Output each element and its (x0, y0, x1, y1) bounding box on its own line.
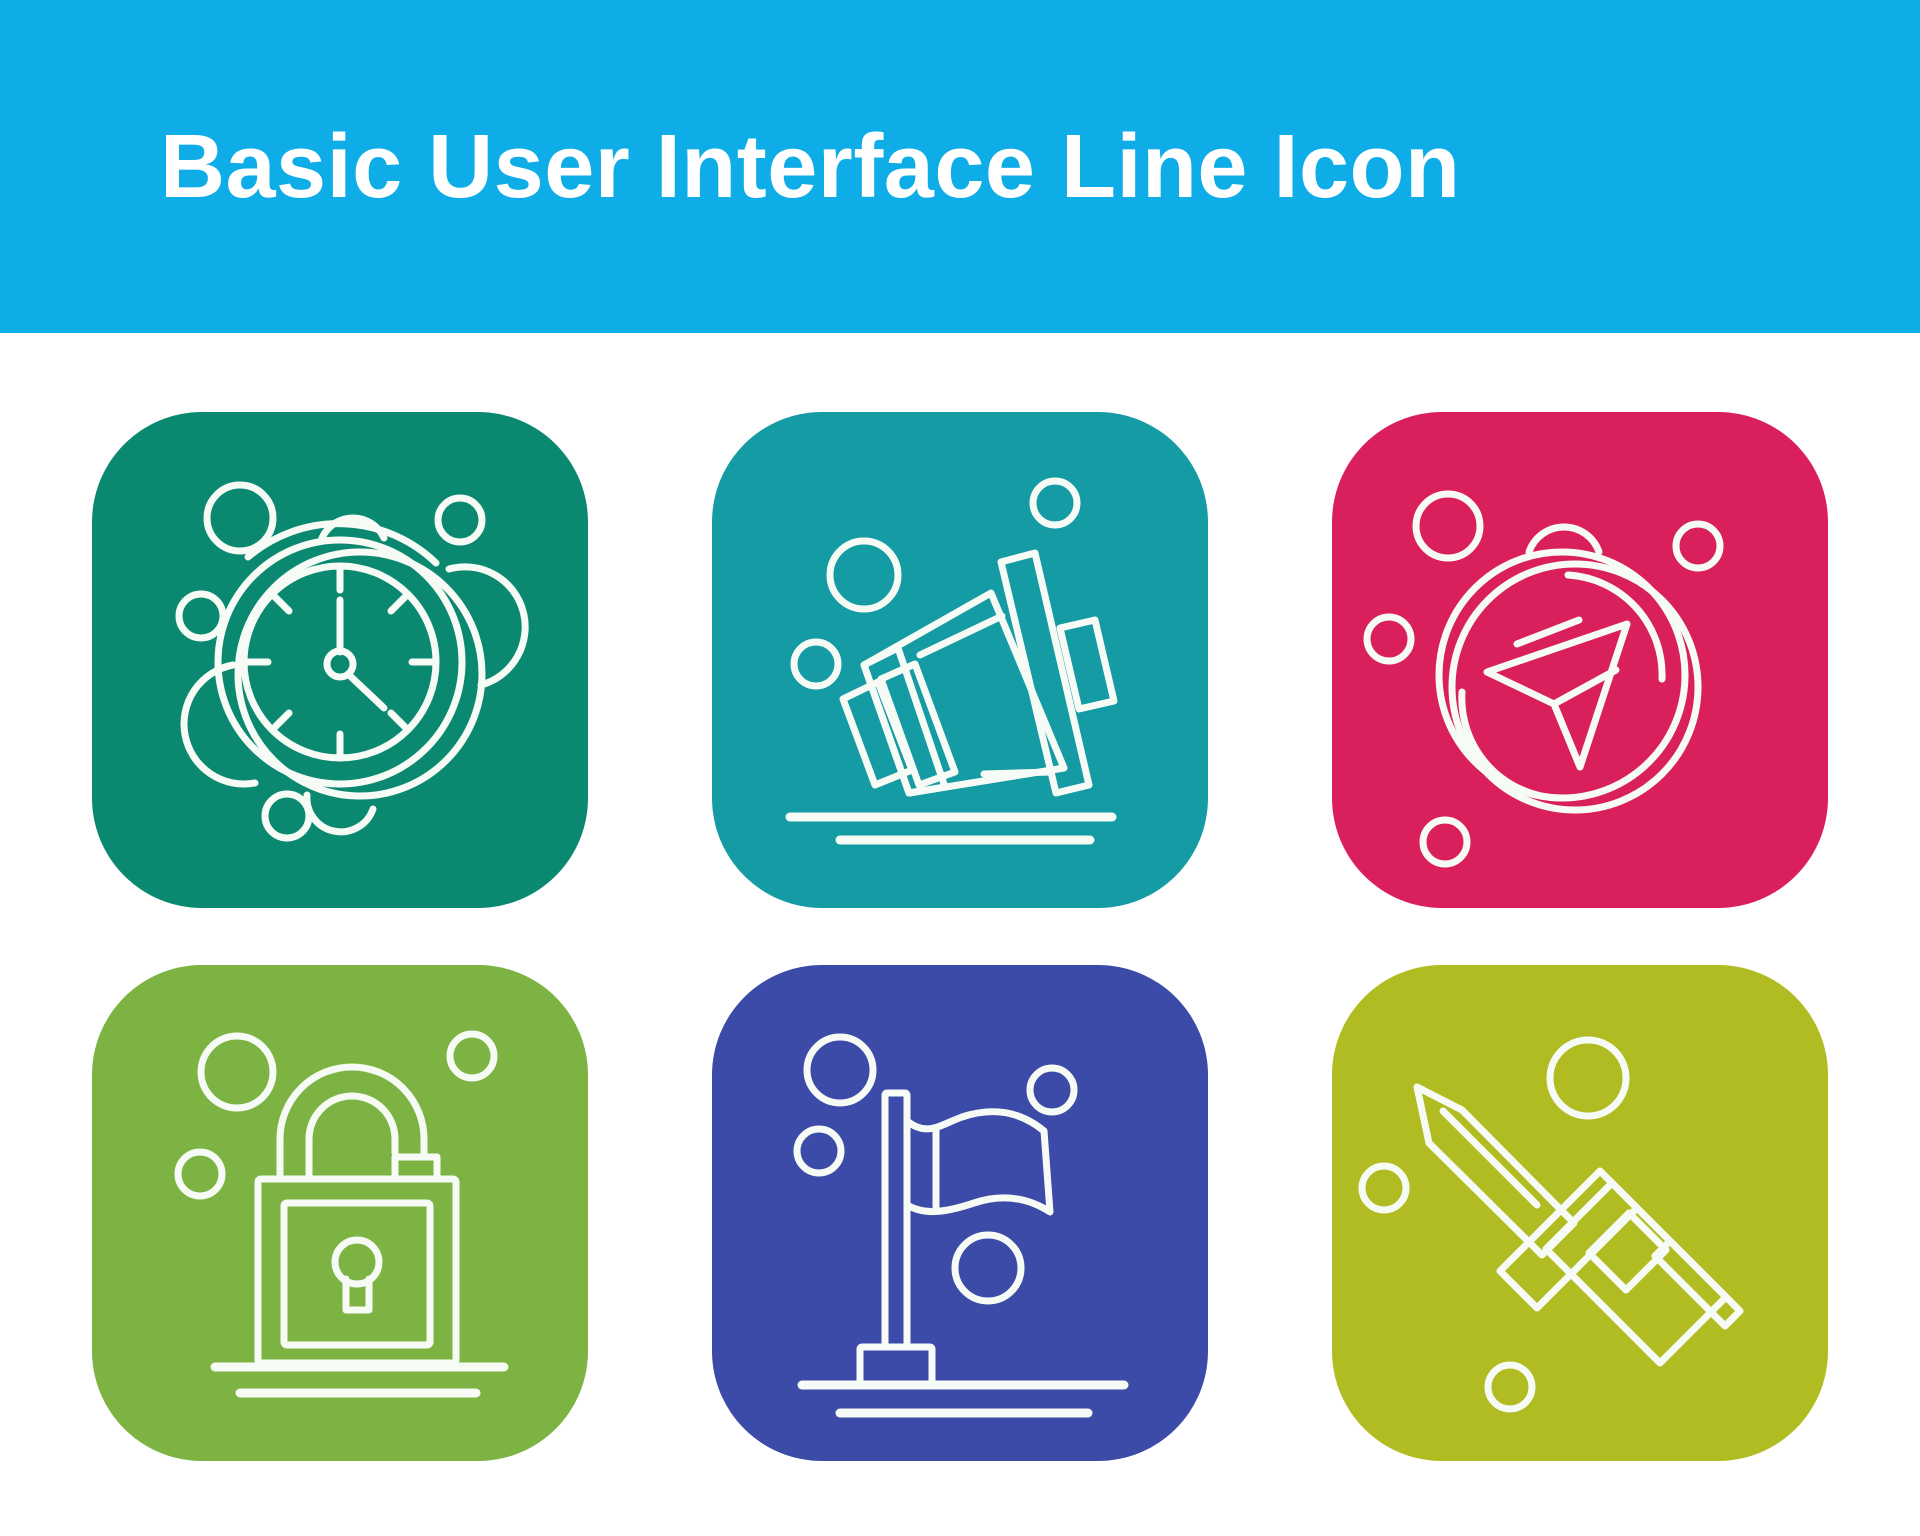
compass-icon (1332, 412, 1828, 908)
icon-tile-alarm-clock[interactable] (92, 412, 588, 908)
icon-tile-compass[interactable] (1332, 412, 1828, 908)
icon-tile-screwdriver[interactable] (1332, 965, 1828, 1461)
clock-tick-075 (275, 713, 289, 727)
compass-body (1439, 552, 1685, 798)
screwdriver-handle-cap (1655, 1241, 1740, 1326)
bubble-decoration (1416, 494, 1480, 558)
icon-tile-megaphone[interactable] (712, 412, 1208, 908)
flag-base (860, 1347, 932, 1385)
clock-tick-105 (275, 597, 289, 611)
bubble-decoration (830, 541, 898, 609)
bubble-decoration (1488, 1365, 1532, 1409)
padlock-shackle-inner (309, 1096, 395, 1179)
flag-cloth (907, 1112, 1050, 1212)
compass-arc-bottom (1462, 692, 1558, 798)
bubble-decoration (201, 1036, 273, 1108)
bubble-decoration (797, 1129, 841, 1173)
bubble-decoration (265, 794, 309, 838)
bubble-decoration (955, 1235, 1021, 1301)
icon-grid (92, 412, 1860, 1455)
icon-tile-padlock-unlocked[interactable] (92, 965, 588, 1461)
bubble-decoration (178, 1152, 222, 1196)
icon-sheet-page: Basic User Interface Line Icon (0, 0, 1920, 1536)
bubble-decoration (450, 1034, 494, 1078)
megaphone-base-line (984, 772, 1052, 774)
bubble-decoration (179, 594, 223, 638)
compass-needle (1487, 624, 1627, 767)
bubble-decoration (1423, 820, 1467, 864)
bubble-decoration (207, 485, 273, 551)
bubble-decoration (438, 498, 482, 542)
padlock-keyhole-circle (335, 1240, 379, 1284)
header-banner: Basic User Interface Line Icon (0, 0, 1920, 333)
bubble-decoration (1033, 481, 1077, 525)
megaphone-mast (1001, 553, 1089, 793)
clock-tick-045 (391, 713, 405, 727)
padlock-unlocked-icon (92, 965, 588, 1461)
bubble-decoration (807, 1037, 873, 1103)
page-title: Basic User Interface Line Icon (160, 122, 1461, 212)
bubble-decoration (1030, 1068, 1074, 1112)
bubble-decoration (1676, 524, 1720, 568)
bubble-decoration (1367, 617, 1411, 661)
screwdriver-blade-edge (1443, 1111, 1537, 1205)
bubble-decoration (794, 642, 838, 686)
clock-bell-bottom (307, 795, 373, 832)
clock-hour-hand (348, 674, 384, 708)
megaphone-highlight (920, 616, 1002, 655)
megaphone-icon (712, 412, 1208, 908)
clock-tick-015 (391, 597, 405, 611)
icon-tile-flag[interactable] (712, 965, 1208, 1461)
screwdriver-icon (1332, 965, 1828, 1461)
bubble-decoration (1550, 1040, 1626, 1116)
compass-crown (1529, 527, 1599, 552)
alarm-clock-icon (92, 412, 588, 908)
flag-icon (712, 965, 1208, 1461)
bubble-decoration (1362, 1166, 1406, 1210)
padlock-body-inner (284, 1203, 430, 1345)
padlock-shackle-outer (280, 1067, 424, 1179)
padlock-body (258, 1179, 456, 1363)
